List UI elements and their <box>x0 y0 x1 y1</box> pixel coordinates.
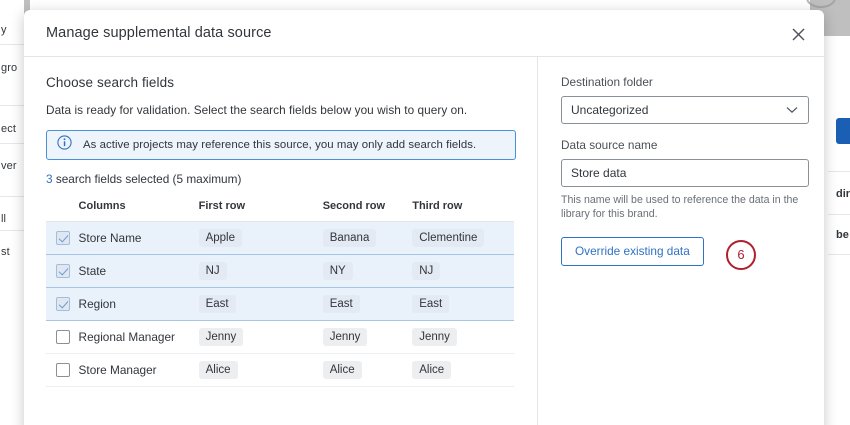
background-divider <box>828 214 850 215</box>
row-third-value: NJ <box>412 255 514 288</box>
search-fields-table: Columns First row Second row Third row S… <box>46 200 514 387</box>
value-chip: East <box>412 295 449 313</box>
background-divider <box>828 254 850 255</box>
table-header-third-row: Third row <box>412 200 514 222</box>
row-first-value: Apple <box>199 222 323 255</box>
row-third-value: Alice <box>412 354 514 387</box>
dialog-body: Choose search fields Data is ready for v… <box>24 57 824 425</box>
table-header: Columns First row Second row Third row <box>46 200 514 222</box>
row-checkbox-cell[interactable] <box>46 321 79 354</box>
row-checkbox-cell[interactable] <box>46 354 79 387</box>
value-chip: Jenny <box>323 328 368 346</box>
table-row[interactable]: Regional Manager Jenny Jenny Jenny <box>46 321 514 354</box>
value-chip: Banana <box>323 229 377 247</box>
data-source-name-label: Data source name <box>561 138 824 152</box>
row-first-value: Jenny <box>199 321 323 354</box>
row-column-name: Store Name <box>79 222 199 255</box>
table-row[interactable]: Store Manager Alice Alice Alice <box>46 354 514 387</box>
background-text-fragment: y <box>1 24 7 36</box>
row-checkbox[interactable] <box>56 264 70 278</box>
row-second-value: Banana <box>323 222 413 255</box>
override-existing-data-button[interactable]: Override existing data <box>561 237 704 266</box>
row-column-name: Region <box>79 288 199 321</box>
dialog-header: Manage supplemental data source <box>24 10 824 57</box>
table-header-second-row: Second row <box>323 200 413 222</box>
chevron-down-icon <box>786 103 798 117</box>
value-chip: NJ <box>199 262 227 280</box>
info-banner: As active projects may reference this so… <box>46 130 516 160</box>
selected-count-text: search fields selected (5 maximum) <box>53 172 242 186</box>
row-third-value: East <box>412 288 514 321</box>
value-chip: East <box>323 295 360 313</box>
row-third-value: Clementine <box>412 222 514 255</box>
table-header-checkbox <box>46 200 79 222</box>
background-text-fragment: ver <box>1 160 17 172</box>
row-column-name: Regional Manager <box>79 321 199 354</box>
table-row[interactable]: Store Name Apple Banana Clementine <box>46 222 514 255</box>
value-chip: Alice <box>323 361 362 379</box>
section-description: Data is ready for validation. Select the… <box>46 103 537 117</box>
row-checkbox-cell[interactable] <box>46 255 79 288</box>
close-icon[interactable] <box>786 22 810 46</box>
row-first-value: East <box>199 288 323 321</box>
section-title: Choose search fields <box>46 75 537 90</box>
background-primary-button[interactable] <box>836 118 850 144</box>
row-second-value: Jenny <box>323 321 413 354</box>
value-chip: Alice <box>199 361 238 379</box>
row-checkbox[interactable] <box>56 363 70 377</box>
annotation-badge-6: 6 <box>726 240 756 270</box>
page-root: y gro ect ver ll st dir be Manage supple… <box>0 0 850 425</box>
dialog-title: Manage supplemental data source <box>46 25 272 41</box>
search-fields-pane: Choose search fields Data is ready for v… <box>24 57 537 425</box>
row-column-name: State <box>79 255 199 288</box>
table-header-row: Columns First row Second row Third row <box>46 200 514 222</box>
row-checkbox[interactable] <box>56 231 70 245</box>
background-text-fragment: st <box>1 246 10 258</box>
data-source-name-input[interactable]: Store data <box>561 159 809 187</box>
row-checkbox-cell[interactable] <box>46 222 79 255</box>
destination-pane: Destination folder Uncategorized Data so… <box>537 57 824 425</box>
destination-folder-value: Uncategorized <box>571 103 648 117</box>
row-third-value: Jenny <box>412 321 514 354</box>
table-header-columns: Columns <box>79 200 199 222</box>
override-row: Override existing data 6 <box>561 237 704 266</box>
data-source-name-value: Store data <box>571 166 626 180</box>
value-chip: Clementine <box>412 229 484 247</box>
value-chip: Jenny <box>199 328 244 346</box>
value-chip: Alice <box>412 361 451 379</box>
table-header-first-row: First row <box>199 200 323 222</box>
background-divider <box>0 44 24 45</box>
row-checkbox[interactable] <box>56 330 70 344</box>
table-row[interactable]: Region East East East <box>46 288 514 321</box>
row-checkbox-cell[interactable] <box>46 288 79 321</box>
row-second-value: East <box>323 288 413 321</box>
value-chip: Apple <box>199 229 242 247</box>
destination-folder-select[interactable]: Uncategorized <box>561 96 809 124</box>
selected-count: 3 search fields selected (5 maximum) <box>46 172 537 186</box>
background-divider <box>0 105 24 106</box>
background-divider <box>0 143 24 144</box>
row-second-value: NY <box>323 255 413 288</box>
value-chip: NY <box>323 262 353 280</box>
manage-data-source-dialog: Manage supplemental data source Choose s… <box>24 10 824 425</box>
value-chip: Jenny <box>412 328 457 346</box>
background-divider <box>0 230 24 231</box>
value-chip: NJ <box>412 262 440 280</box>
background-text-fragment: ll <box>1 213 6 225</box>
row-second-value: Alice <box>323 354 413 387</box>
value-chip: East <box>199 295 236 313</box>
background-divider <box>0 196 24 197</box>
background-text-fragment: dir <box>836 188 850 200</box>
background-text-fragment: be <box>836 229 849 241</box>
data-source-name-helper: This name will be used to reference the … <box>561 193 805 222</box>
row-column-name: Store Manager <box>79 354 199 387</box>
background-divider <box>828 171 850 172</box>
table-body: Store Name Apple Banana Clementine State… <box>46 222 514 387</box>
background-text-fragment: gro <box>1 62 17 74</box>
row-first-value: Alice <box>199 354 323 387</box>
info-circle-icon <box>57 135 72 155</box>
table-row[interactable]: State NJ NY NJ <box>46 255 514 288</box>
row-first-value: NJ <box>199 255 323 288</box>
background-left-panel: y gro ect ver ll st <box>0 0 24 425</box>
row-checkbox[interactable] <box>56 297 70 311</box>
destination-folder-label: Destination folder <box>561 75 824 89</box>
info-banner-text: As active projects may reference this so… <box>83 139 476 151</box>
background-text-fragment: ect <box>1 123 16 135</box>
